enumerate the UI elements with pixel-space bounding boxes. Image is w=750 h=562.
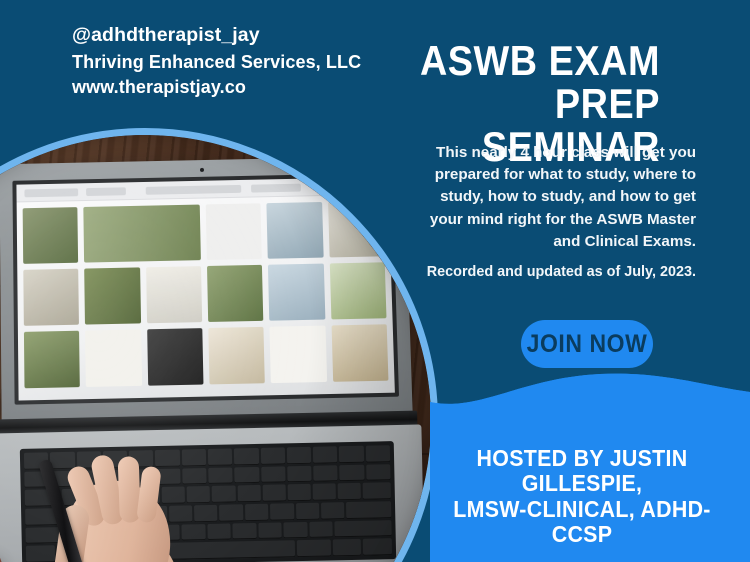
host-credit-line-2: LMSW-CLINICAL, ADHD-CCSP bbox=[441, 497, 724, 548]
join-now-button-label: JOIN NOW bbox=[526, 320, 647, 368]
hero-photo-circle bbox=[0, 128, 438, 562]
host-credit-line-1: HOSTED BY JUSTIN GILLESPIE, bbox=[441, 446, 724, 497]
aswb-exam-prep-seminar-flyer: @adhdtherapist_jay Thriving Enhanced Ser… bbox=[0, 0, 750, 562]
brand-block: @adhdtherapist_jay Thriving Enhanced Ser… bbox=[72, 22, 361, 101]
description-text: This nearly 4 hour class will get you pr… bbox=[428, 142, 696, 253]
brand-handle: @adhdtherapist_jay bbox=[72, 22, 361, 50]
brand-company: Thriving Enhanced Services, LLC bbox=[72, 50, 361, 76]
recorded-note-text: Recorded and updated as of July, 2023. bbox=[396, 262, 696, 282]
brand-website[interactable]: www.therapistjay.co bbox=[72, 75, 361, 101]
hero-photo-image bbox=[0, 135, 431, 562]
page-title-line-1: ASWB EXAM PREP bbox=[363, 40, 660, 126]
host-credit: HOSTED BY JUSTIN GILLESPIE, LMSW-CLINICA… bbox=[430, 446, 734, 547]
photo-vignette bbox=[0, 135, 431, 562]
join-now-button[interactable]: JOIN NOW bbox=[521, 320, 653, 368]
